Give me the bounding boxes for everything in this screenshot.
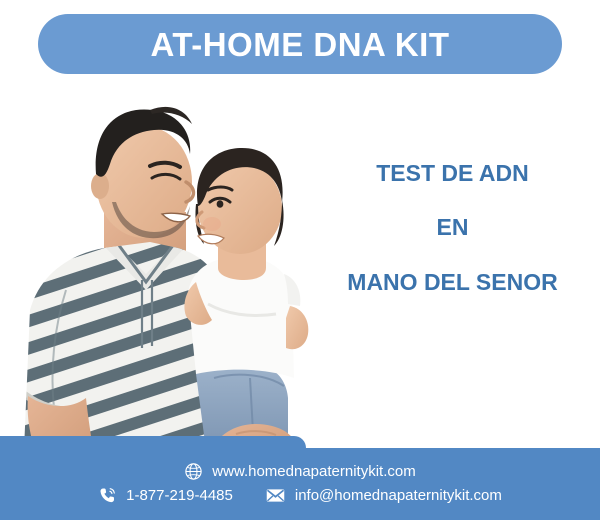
photo-illustration: [0, 78, 330, 478]
email-item[interactable]: info@homednapaternitykit.com: [265, 485, 502, 506]
email-label: info@homednapaternitykit.com: [295, 488, 502, 503]
globe-icon: [184, 462, 203, 481]
phone-icon: [98, 486, 117, 505]
phone-item[interactable]: 1-877-219-4485: [98, 486, 233, 505]
website-item[interactable]: www.homednapaternitykit.com: [184, 462, 415, 481]
headline-line-1: TEST DE ADN: [320, 160, 585, 186]
footer-bar-notch: [0, 436, 306, 448]
footer-row-website: www.homednapaternitykit.com: [184, 462, 415, 481]
footer-row-contact: 1-877-219-4485 info@homednapaternitykit.…: [98, 485, 502, 506]
phone-label: 1-877-219-4485: [126, 488, 233, 503]
father-and-child-photo: [0, 78, 330, 478]
envelope-icon: [265, 485, 286, 506]
headline-line-3: MANO DEL SENOR: [320, 269, 585, 295]
header-banner: AT-HOME DNA KIT: [38, 14, 562, 74]
website-label: www.homednapaternitykit.com: [212, 464, 415, 479]
promo-card: AT-HOME DNA KIT: [0, 0, 600, 520]
page-title: AT-HOME DNA KIT: [151, 28, 450, 61]
headline-line-2: EN: [320, 214, 585, 240]
headline-block: TEST DE ADN EN MANO DEL SENOR: [320, 160, 585, 295]
footer-contact-block: www.homednapaternitykit.com 1-877-219-44…: [0, 448, 600, 520]
